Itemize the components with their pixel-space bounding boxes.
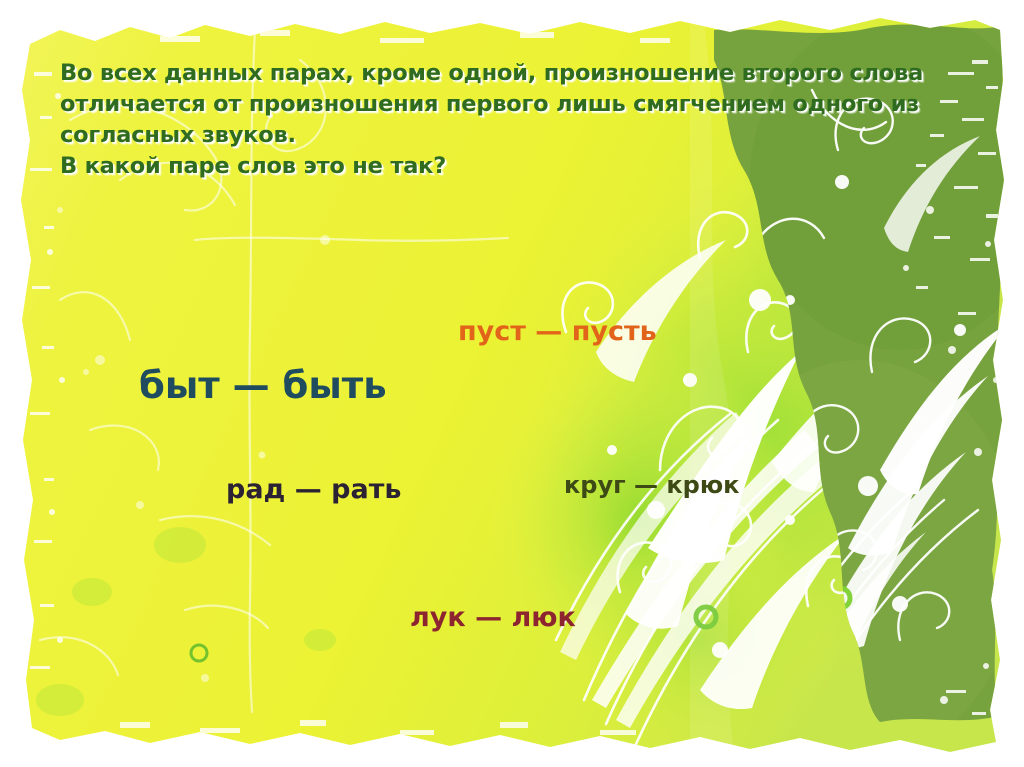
word-pair-pust: пуст — пусть: [458, 316, 657, 347]
word-pair-rad: рад — рать: [226, 474, 401, 505]
slide-canvas: Во всех данных парах, кроме одной, произ…: [0, 0, 1024, 767]
word-pair-byt: быт — быть: [139, 364, 387, 407]
word-pair-luk: лук — люк: [410, 602, 576, 633]
word-pair-krug: круг — крюк: [564, 471, 739, 499]
